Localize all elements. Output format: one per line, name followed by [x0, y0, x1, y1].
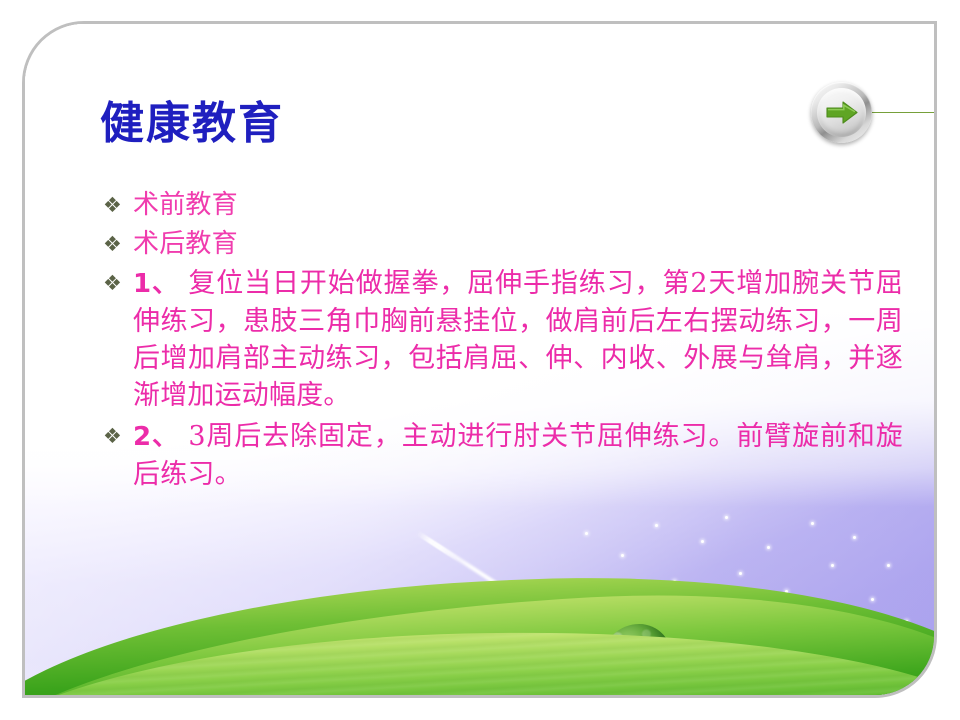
slide-frame: 健康教育 ❖ 术前教育 ❖ 术后教育 ❖ 1、 复位 [22, 21, 937, 698]
list-item: ❖ 术后教育 [103, 226, 903, 263]
page-title: 健康教育 [100, 96, 660, 152]
next-slide-button[interactable] [811, 82, 872, 143]
content-body: ❖ 术前教育 ❖ 术后教育 ❖ 1、 复位当日开始做握拳，屈伸手指练习，第2天增… [103, 187, 903, 497]
diamond-bullet-icon: ❖ [103, 187, 133, 223]
diamond-bullet-icon: ❖ [103, 226, 133, 262]
list-item-number: 2、 [133, 422, 179, 452]
diamond-bullet-icon: ❖ [103, 418, 133, 454]
forward-arrow-icon [826, 100, 858, 125]
title-area: 健康教育 [100, 96, 660, 160]
header-accent-line [861, 112, 937, 113]
list-item: ❖ 1、 复位当日开始做握拳，屈伸手指练习，第2天增加腕关节屈伸练习，患肢三角巾… [103, 265, 903, 414]
list-item-text: 2、 3周后去除固定，主动进行肘关节屈伸练习。前臂旋前和旋后练习。 [133, 418, 903, 493]
list-item-text: 术后教育 [133, 226, 903, 263]
list-item-text: 1、 复位当日开始做握拳，屈伸手指练习，第2天增加腕关节屈伸练习，患肢三角巾胸前… [133, 265, 903, 414]
list-item: ❖ 2、 3周后去除固定，主动进行肘关节屈伸练习。前臂旋前和旋后练习。 [103, 418, 903, 493]
list-item-number: 1、 [133, 269, 179, 299]
list-item-text: 术前教育 [133, 187, 903, 224]
presentation-slide: 健康教育 ❖ 术前教育 ❖ 术后教育 ❖ 1、 复位 [0, 0, 960, 720]
list-item: ❖ 术前教育 [103, 187, 903, 224]
list-item-body: 复位当日开始做握拳，屈伸手指练习，第2天增加腕关节屈伸练习，患肢三角巾胸前悬挂位… [133, 268, 903, 411]
diamond-bullet-icon: ❖ [103, 265, 133, 301]
list-item-body: 3周后去除固定，主动进行肘关节屈伸练习。前臂旋前和旋后练习。 [133, 421, 903, 490]
